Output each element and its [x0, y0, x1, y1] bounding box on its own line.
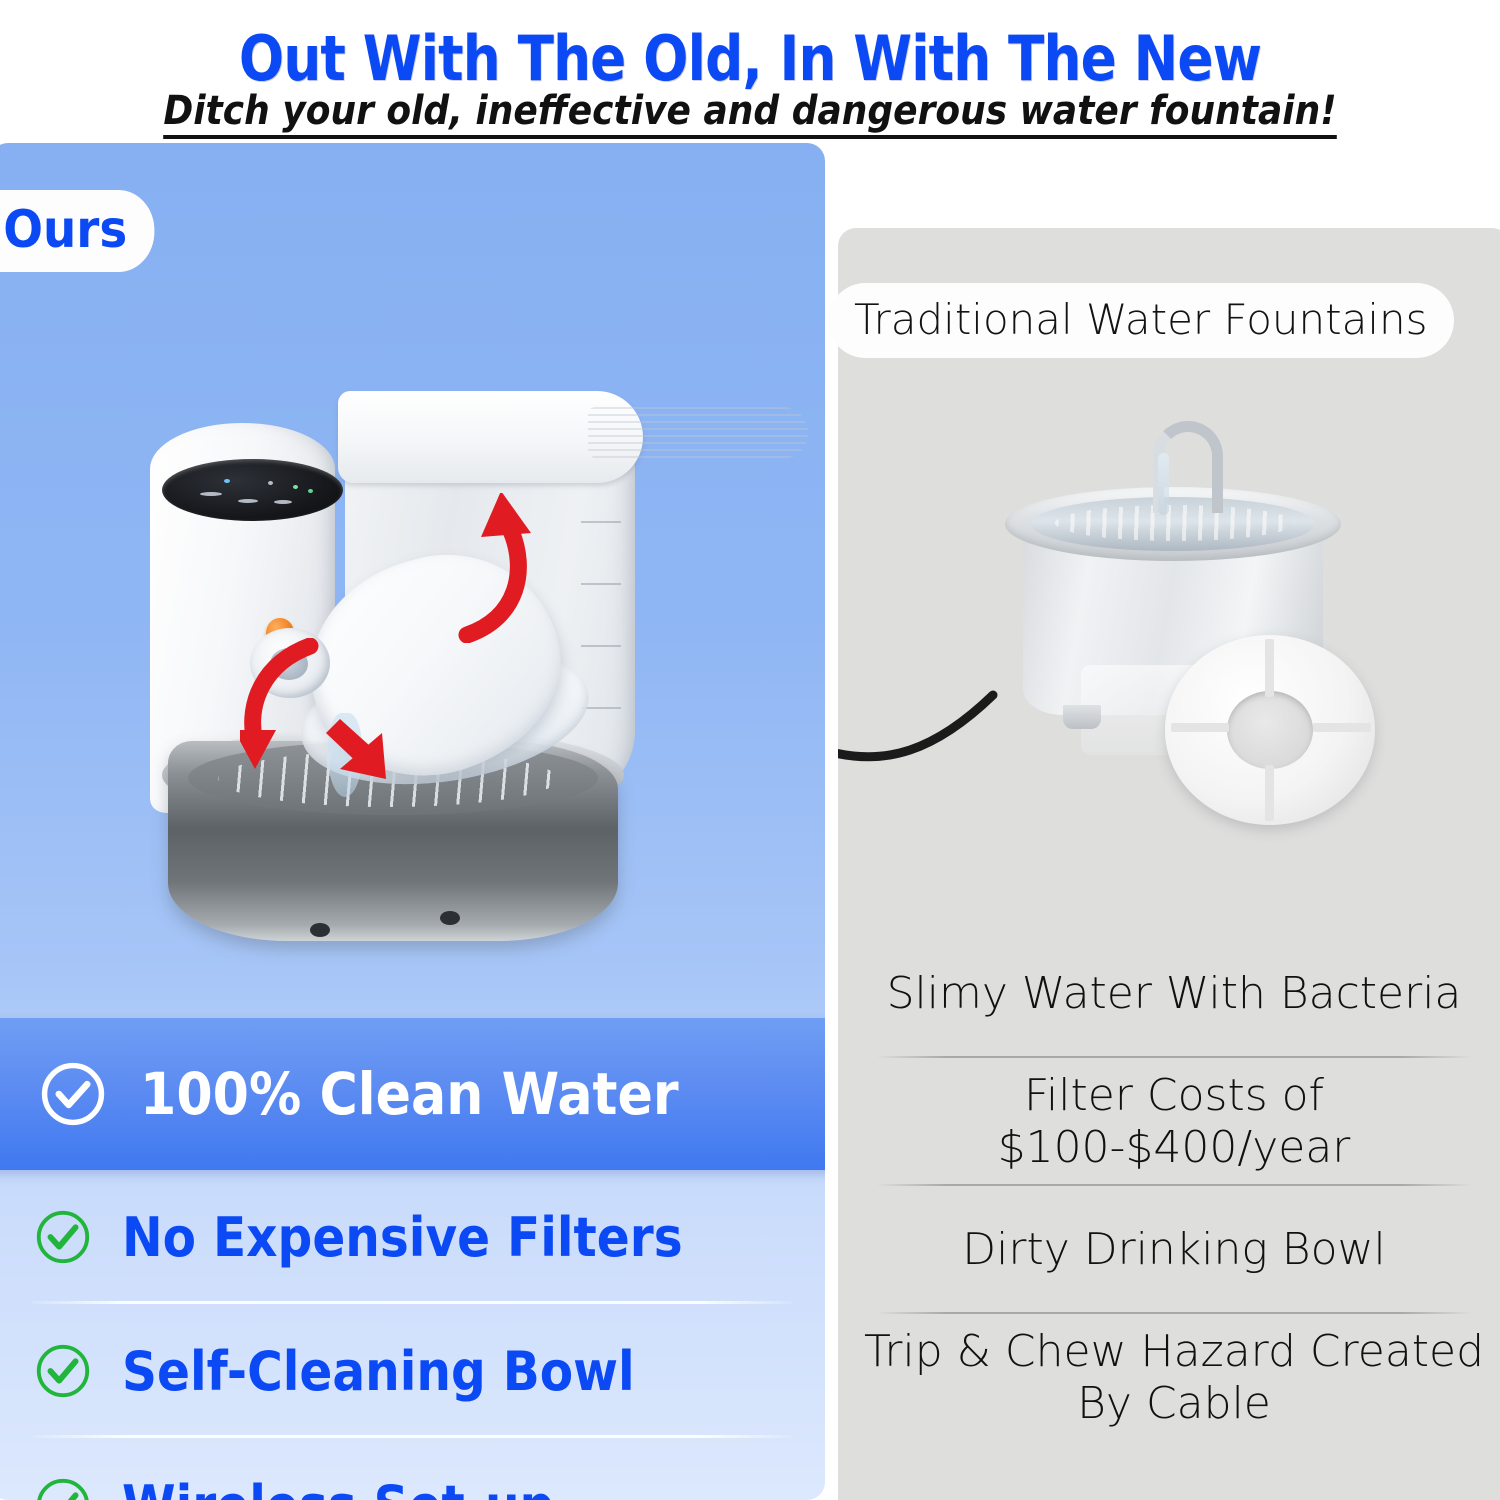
feature-label: No Expensive Filters	[122, 1206, 683, 1269]
control-panel-icon	[162, 459, 343, 521]
check-circle-icon	[32, 1474, 94, 1500]
tank-lid	[338, 391, 643, 483]
power-cable-icon	[838, 655, 1045, 765]
drawback-label: Trip & Chew Hazard Created By Cable	[846, 1326, 1500, 1430]
feature-row-wireless[interactable]: Wireless Set-up	[0, 1438, 825, 1500]
water-stream	[1158, 453, 1169, 515]
drawback-row-filter-costs[interactable]: Filter Costs of $100-$400/year	[838, 1058, 1500, 1186]
fountain-foot	[1063, 705, 1101, 729]
ours-feature-list: 100% Clean Water No Expensive Filters Se…	[0, 1018, 825, 1500]
ours-badge: Ours	[0, 190, 154, 272]
feature-row-clean-water[interactable]: 100% Clean Water	[0, 1018, 825, 1170]
drawback-row-slimy-water[interactable]: Slimy Water With Bacteria	[838, 930, 1500, 1058]
drawback-row-dirty-bowl[interactable]: Dirty Drinking Bowl	[838, 1186, 1500, 1314]
base-foot	[440, 911, 460, 925]
header: Out With The Old, In With The New Ditch …	[0, 0, 1500, 140]
base-foot	[310, 923, 330, 937]
drawback-label: Filter Costs of $100-$400/year	[846, 1070, 1500, 1174]
replacement-filter-icon	[1165, 635, 1375, 825]
traditional-badge: Traditional Water Fountains	[828, 283, 1454, 358]
traditional-product-image	[985, 405, 1405, 805]
traditional-drawback-list: Slimy Water With Bacteria Filter Costs o…	[838, 930, 1500, 1442]
feature-label: Self-Cleaning Bowl	[122, 1340, 635, 1403]
check-circle-icon	[38, 1059, 108, 1129]
drawback-label: Dirty Drinking Bowl	[962, 1224, 1385, 1276]
feature-row-no-filters[interactable]: No Expensive Filters	[0, 1170, 825, 1304]
drawback-row-cable-hazard[interactable]: Trip & Chew Hazard Created By Cable	[838, 1314, 1500, 1442]
ours-panel: 100% Clean Water No Expensive Filters Se…	[0, 143, 825, 1500]
drawback-label: Slimy Water With Bacteria	[887, 968, 1462, 1020]
page-subtitle: Ditch your old, ineffective and dangerou…	[75, 88, 1425, 134]
check-circle-icon	[32, 1340, 94, 1402]
page-subtitle-text: Ditch your old, ineffective and dangerou…	[163, 88, 1336, 139]
tank-level-marks	[581, 521, 621, 751]
feature-label: Wireless Set-up	[122, 1474, 554, 1500]
our-product-image	[140, 383, 660, 1003]
water-flow-arrow-icon	[322, 713, 412, 823]
rotation-arrow-up-icon	[415, 493, 545, 643]
feature-row-self-cleaning[interactable]: Self-Cleaning Bowl	[0, 1304, 825, 1438]
feature-label: 100% Clean Water	[140, 1060, 679, 1128]
page-title: Out With The Old, In With The New	[105, 22, 1395, 95]
check-circle-icon	[32, 1206, 94, 1268]
lid-ridges	[588, 407, 808, 459]
